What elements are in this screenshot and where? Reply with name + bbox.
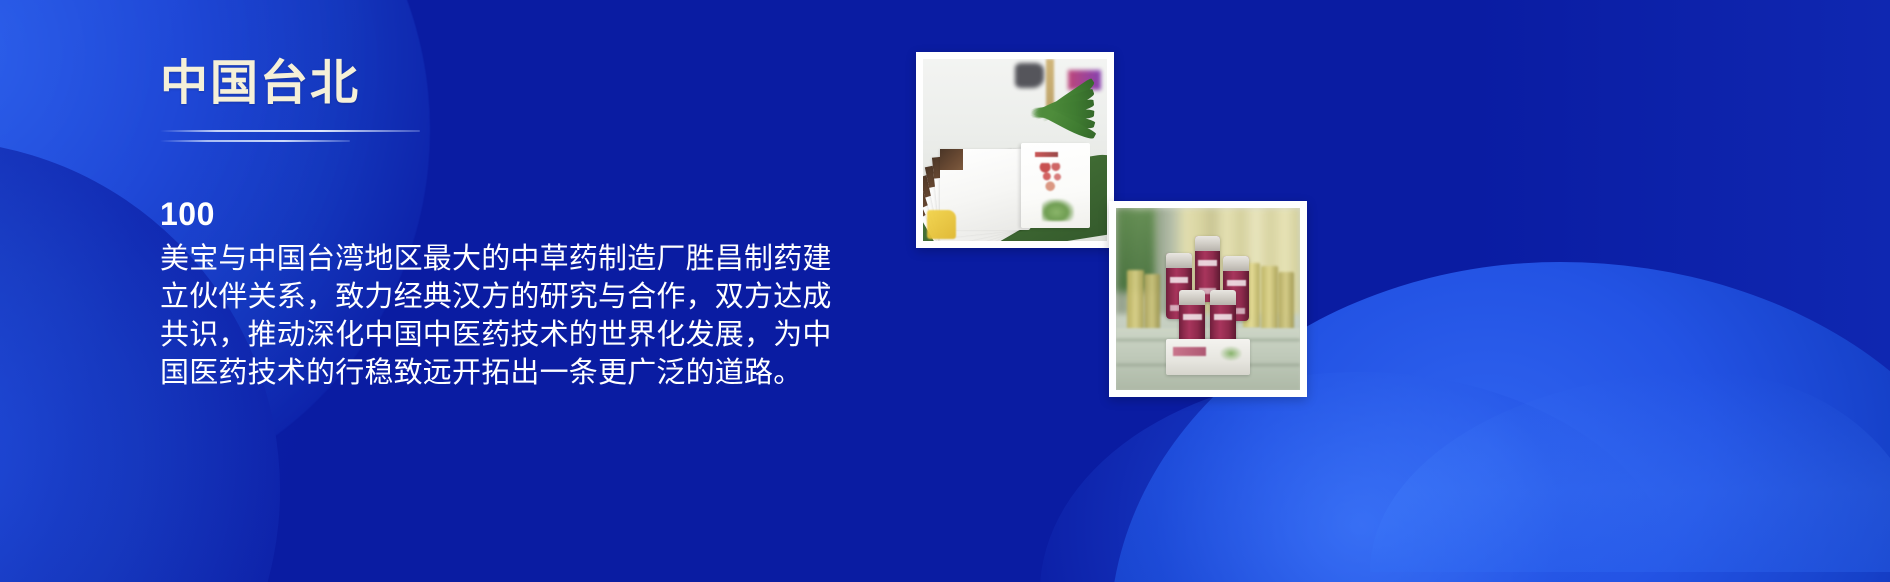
- product-box-illustration: [1220, 346, 1242, 361]
- divider-line-primary: [160, 130, 420, 132]
- brochure-logo: [1035, 152, 1059, 158]
- bottles-scene: [1116, 208, 1300, 390]
- title-divider: [160, 130, 420, 142]
- content-column: 中国台北 100 美宝与中国台湾地区最大的中草药制造厂胜昌制药建立伙伴关系，致力…: [160, 0, 880, 582]
- background-bottle: [1261, 266, 1278, 332]
- page-title: 中国台北: [160, 56, 360, 111]
- brochures-photo: [916, 52, 1114, 248]
- yellow-foreground-object: [927, 210, 956, 239]
- product-box-label: [1173, 347, 1207, 357]
- product-box: [1166, 339, 1250, 376]
- product-bottles-photo: [1109, 201, 1307, 397]
- brochure-chinese-characters: [1039, 163, 1067, 192]
- brochure-front-cover: [1021, 143, 1090, 228]
- body-paragraph: 美宝与中国台湾地区最大的中草药制造厂胜昌制药建立伙伴关系，致力经典汉方的研究与合…: [160, 240, 860, 392]
- brochures-photo-inner: [923, 59, 1107, 241]
- brochure-plant-illustration: [1042, 199, 1074, 221]
- divider-line-secondary: [160, 140, 350, 142]
- presentation-slide: 中国台北 100 美宝与中国台湾地区最大的中草药制造厂胜昌制药建立伙伴关系，致力…: [0, 0, 1890, 582]
- brochures-scene: [923, 59, 1107, 241]
- bottle-stack: [1160, 233, 1256, 375]
- background-bottle: [1127, 270, 1144, 336]
- product-bottles-photo-inner: [1116, 208, 1300, 390]
- brochure-fan: [940, 135, 1091, 230]
- stat-number: 100: [160, 196, 215, 233]
